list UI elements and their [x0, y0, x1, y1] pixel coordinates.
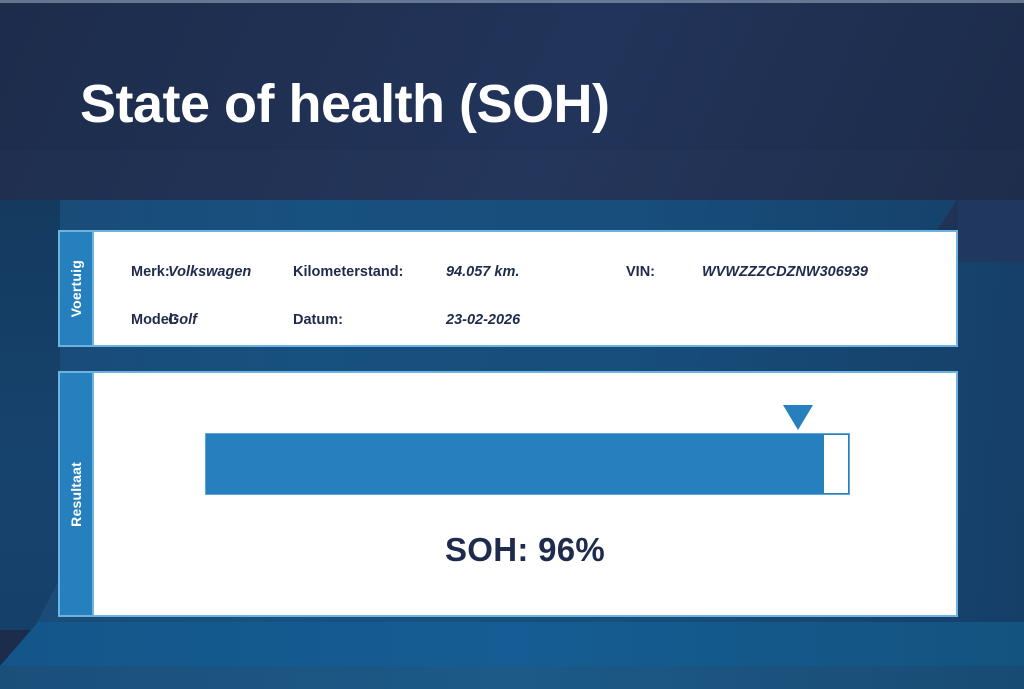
model-label: Model: — [94, 312, 168, 328]
merk-value: Volkswagen — [168, 264, 293, 280]
kilometerstand-label: Kilometerstand: — [293, 264, 446, 280]
soh-gauge-remainder — [823, 434, 849, 494]
vehicle-info-grid: Merk: Volkswagen Kilometerstand: 94.057 … — [94, 232, 956, 345]
vin-label: VIN: — [626, 264, 702, 280]
vehicle-card-body: Merk: Volkswagen Kilometerstand: 94.057 … — [92, 232, 956, 345]
vehicle-card-tab: Voertuig — [60, 232, 92, 345]
datum-value: 23-02-2026 — [446, 312, 626, 328]
soh-readout: SOH: 96% — [94, 531, 956, 569]
datum-label: Datum: — [293, 312, 446, 328]
background-right-notch-fill — [958, 200, 1024, 262]
page-title: State of health (SOH) — [80, 73, 610, 135]
soh-gauge-marker-triangle-icon — [783, 405, 813, 430]
slide-root: State of health (SOH) Voertuig Merk: Vol… — [0, 0, 1024, 689]
background-bottom-band — [0, 666, 1024, 689]
result-card-body: SOH: 96% — [92, 373, 956, 615]
vehicle-info-row: Model: Golf Datum: 23-02-2026 — [94, 296, 956, 344]
vehicle-card-tab-label: Voertuig — [68, 260, 84, 317]
background-top-hairline — [0, 0, 1024, 3]
vehicle-info-row: Merk: Volkswagen Kilometerstand: 94.057 … — [94, 248, 956, 296]
vin-value: WVWZZZCDZNW306939 — [702, 264, 952, 280]
result-card-tab-label: Resultaat — [68, 462, 84, 527]
vehicle-card: Voertuig Merk: Volkswagen Kilometerstand… — [58, 230, 958, 347]
background-header-stripe — [0, 150, 1024, 200]
merk-label: Merk: — [94, 264, 168, 280]
model-value: Golf — [168, 312, 293, 328]
result-card-tab: Resultaat — [60, 373, 92, 615]
result-card: Resultaat SOH: 96% — [58, 371, 958, 617]
soh-gauge-track — [205, 433, 850, 495]
kilometerstand-value: 94.057 km. — [446, 264, 626, 280]
background-left-wedge — [0, 200, 60, 630]
background-lower-band — [0, 622, 1024, 666]
soh-gauge: SOH: 96% — [94, 373, 956, 615]
